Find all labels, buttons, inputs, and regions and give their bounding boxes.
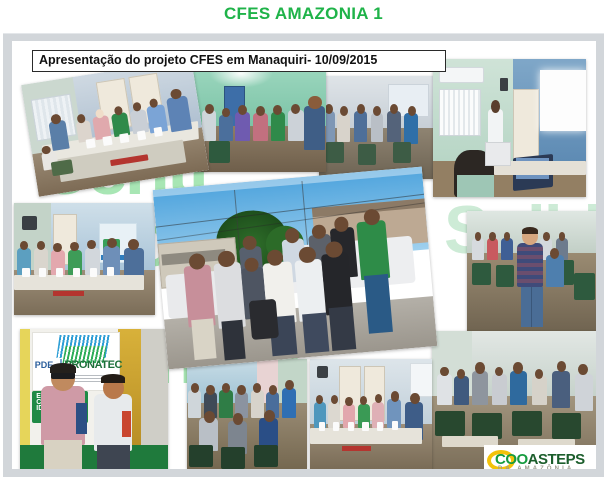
photo-mesa-autoridades [310,359,432,469]
caption-text: Apresentação do projeto CFES em Manaquir… [39,53,377,67]
photo-pronatec: PDE PRONATEC EMICARTIDE [20,329,168,469]
logo-subtitle: DA AMAZÔNIA [498,466,574,469]
slide-stage: CFES AMAZONIA 1 Centr o de Econom ia Sol… [0,0,607,480]
photo-scene: PDE PRONATEC EMICARTIDE [20,329,168,469]
photo-scene [433,59,586,197]
photo-scene [153,167,438,370]
photo-scene [310,359,432,469]
photo-mesa-diretora [14,203,155,315]
photo-grupo-ao-ar-livre [153,167,438,370]
photo-scene [14,203,155,315]
slide-frame: Centr o de Econom ia Solid [3,33,604,477]
caption-box[interactable]: Apresentação do projeto CFES em Manaquir… [32,50,446,72]
photo-palestrante [467,211,596,334]
photo-plateia-costas [187,359,307,469]
slide-canvas: Centr o de Econom ia Solid [12,41,596,469]
photo-auditorio [319,76,434,179]
photo-scene [187,359,307,469]
photo-mesa-abertura [21,58,209,197]
photo-sala-projetor [433,59,586,197]
page-title: CFES AMAZONIA 1 [0,4,607,24]
cooasteps-logo: COOASTEPS DA AMAZÔNIA [484,445,596,469]
photo-scene [467,211,596,334]
photo-scene [21,58,209,197]
photo-scene [319,76,434,179]
